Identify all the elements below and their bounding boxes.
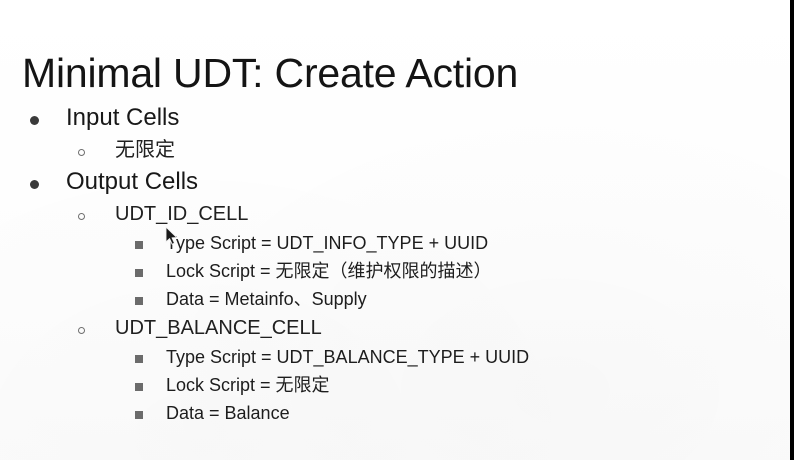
outline-item-label: UDT_ID_CELL: [115, 199, 248, 229]
outline-item-level1: Output Cells: [0, 165, 760, 199]
outline-item-level3: Data = Metainfo、Supply: [0, 285, 760, 313]
outline-item-level2: 无限定: [0, 135, 760, 165]
bullet-square-icon: [135, 345, 166, 373]
outline-item-label: 无限定: [115, 135, 175, 165]
outline-item-level3: Lock Script = 无限定: [0, 371, 760, 399]
outline-item-level1: Input Cells: [0, 101, 760, 135]
outline-item-label: Type Script = UDT_INFO_TYPE + UUID: [166, 229, 488, 257]
bullet-circle-icon: [78, 138, 115, 168]
bullet-square-icon: [135, 401, 166, 429]
outline-item-level3: Type Script = UDT_BALANCE_TYPE + UUID: [0, 343, 760, 371]
page-title: Minimal UDT: Create Action: [22, 49, 518, 97]
outline-item-level2: UDT_BALANCE_CELL: [0, 313, 760, 343]
outline-item-level3: Data = Balance: [0, 399, 760, 427]
outline-item-level2: UDT_ID_CELL: [0, 199, 760, 229]
bullet-square-icon: [135, 287, 166, 315]
bullet-square-icon: [135, 373, 166, 401]
outline-item-label: Type Script = UDT_BALANCE_TYPE + UUID: [166, 343, 529, 371]
right-edge-margin: [794, 0, 800, 460]
bullet-disc-icon: [30, 104, 66, 138]
outline-item-level3: Type Script = UDT_INFO_TYPE + UUID: [0, 229, 760, 257]
outline-item-label: Lock Script = 无限定（维护权限的描述）: [166, 257, 492, 285]
bullet-circle-icon: [78, 202, 115, 232]
outline-item-label: Lock Script = 无限定: [166, 371, 330, 399]
outline-item-label: UDT_BALANCE_CELL: [115, 313, 322, 343]
bullet-circle-icon: [78, 316, 115, 346]
outline-item-label: Input Cells: [66, 101, 179, 135]
outline-item-label: Data = Balance: [166, 399, 290, 427]
bullet-square-icon: [135, 231, 166, 259]
bullet-square-icon: [135, 259, 166, 287]
outline-item-label: Output Cells: [66, 165, 198, 199]
right-edge-bar: [790, 0, 794, 460]
outline-list: Input Cells 无限定 Output Cells UDT_ID_CELL…: [0, 101, 760, 427]
outline-item-level3: Lock Script = 无限定（维护权限的描述）: [0, 257, 760, 285]
bullet-disc-icon: [30, 168, 66, 202]
outline-item-label: Data = Metainfo、Supply: [166, 285, 367, 313]
presentation-slide: Minimal UDT: Create Action Input Cells 无…: [0, 0, 800, 460]
